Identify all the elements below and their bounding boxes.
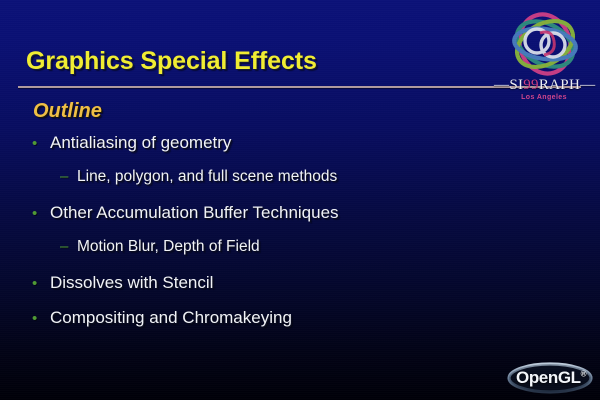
opengl-wordmark: OpenGL® [516, 368, 587, 388]
bullet-icon: • [32, 276, 50, 291]
siggraph-wordmark-suffix: RAPH [539, 77, 580, 93]
opengl-logo: OpenGL® [506, 360, 594, 396]
list-item: • Compositing and Chromakeying [0, 308, 600, 343]
slide-subtitle: Outline [33, 100, 102, 123]
presentation-slide: Graphics Special Effects Outline • Antia… [0, 0, 600, 400]
list-item-label: Compositing and Chromakeying [50, 308, 292, 328]
siggraph-trail-dash: — [580, 77, 595, 93]
siggraph-lead-dash: — [494, 77, 509, 93]
siggraph-rings-icon [500, 11, 590, 77]
list-item: – Motion Blur, Depth of Field [0, 238, 600, 273]
outline-list: • Antialiasing of geometry – Line, polyg… [0, 133, 600, 343]
list-item: • Dissolves with Stencil [0, 273, 600, 308]
list-item-label: Dissolves with Stencil [50, 273, 213, 293]
registered-mark-icon: ® [581, 369, 587, 378]
list-item-label: Motion Blur, Depth of Field [77, 238, 260, 256]
list-item-label: Other Accumulation Buffer Techniques [50, 203, 339, 223]
siggraph-wordmark: —SI99RAPH— [494, 77, 594, 94]
siggraph-city-label: Los Angeles [494, 94, 594, 101]
bullet-icon: • [32, 206, 50, 221]
bullet-icon: • [32, 311, 50, 326]
list-item-label: Antialiasing of geometry [50, 133, 231, 153]
opengl-wordmark-label: OpenGL [516, 368, 581, 387]
dash-bullet-icon: – [60, 169, 77, 184]
page-title: Graphics Special Effects [26, 47, 317, 76]
bullet-icon: • [32, 136, 50, 151]
list-item-label: Line, polygon, and full scene methods [77, 168, 337, 186]
siggraph-wordmark-prefix: SI [509, 77, 523, 93]
list-item: – Line, polygon, and full scene methods [0, 168, 600, 203]
dash-bullet-icon: – [60, 239, 77, 254]
siggraph-logo: —SI99RAPH— Los Angeles [494, 11, 594, 107]
siggraph-wordmark-nines: 99 [523, 77, 539, 93]
list-item: • Antialiasing of geometry [0, 133, 600, 168]
list-item: • Other Accumulation Buffer Techniques [0, 203, 600, 238]
